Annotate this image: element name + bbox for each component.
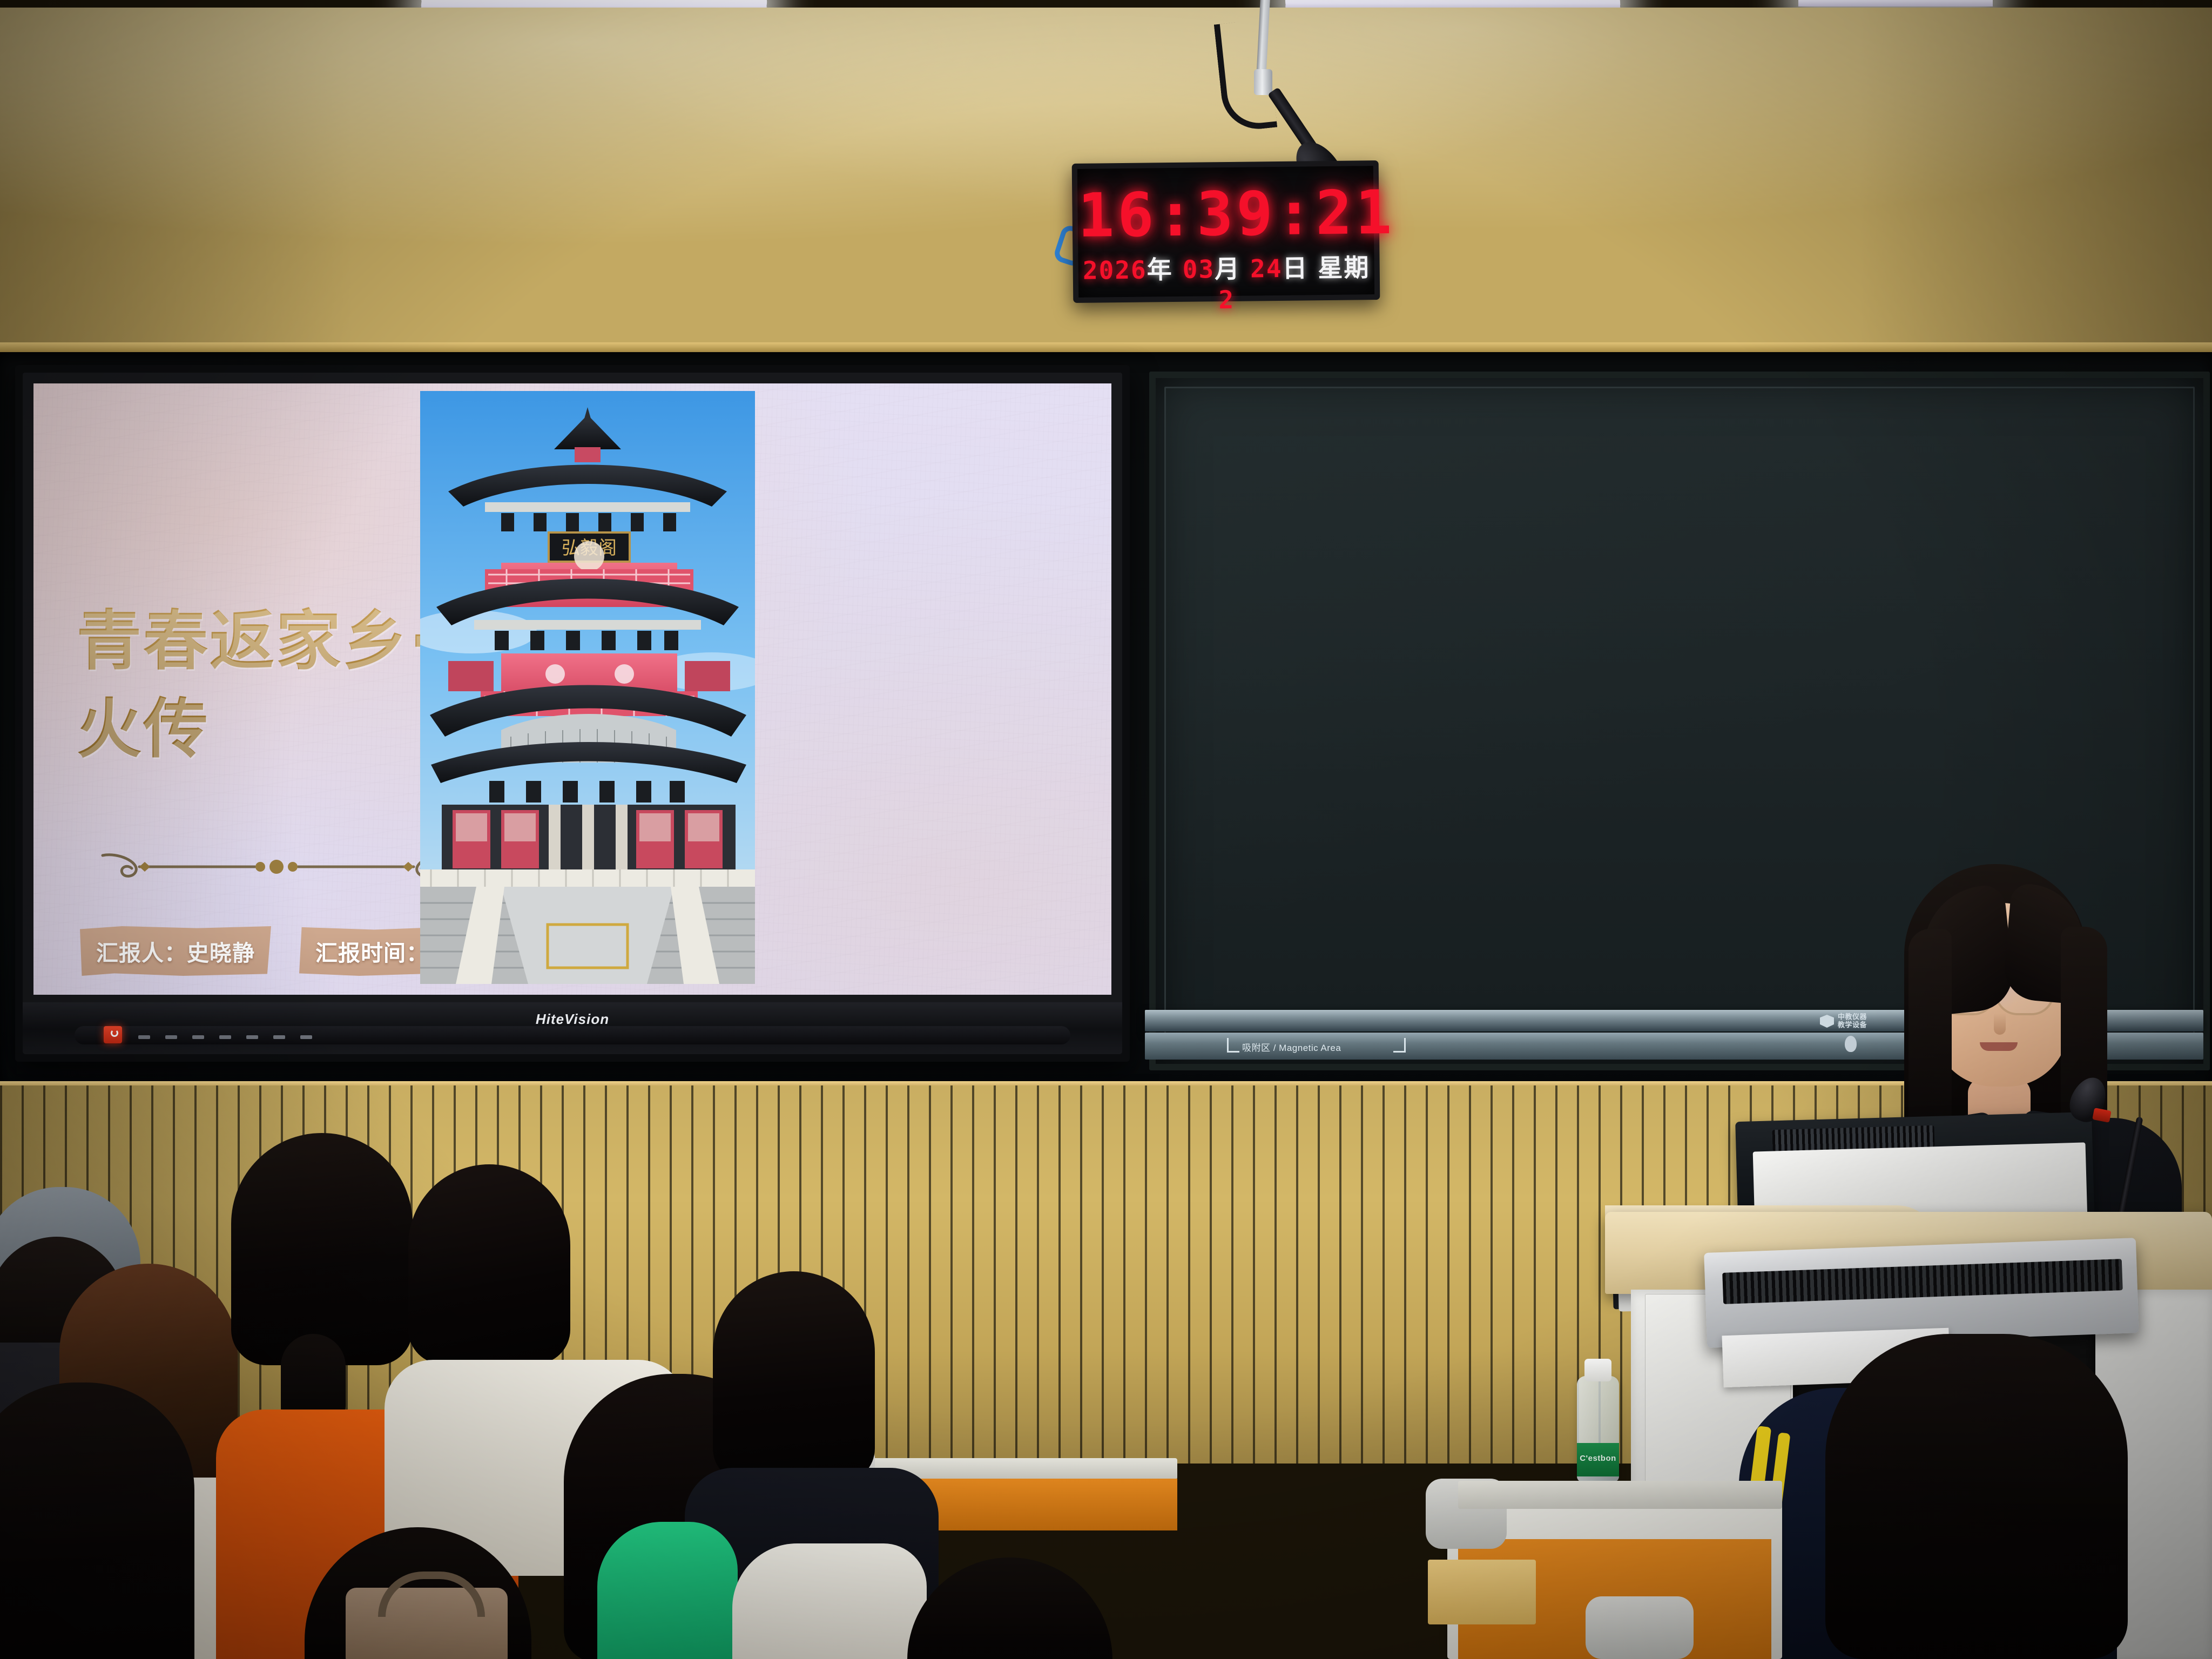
list-item — [408, 1164, 570, 1364]
list-item — [597, 1522, 738, 1659]
ornamental-divider-icon — [98, 848, 455, 886]
water-bottle-brand: C'estbon — [1577, 1454, 1619, 1463]
magnetic-area-bracket-right — [1393, 1038, 1406, 1053]
panel-screen[interactable]: 青春返家乡·文化薪火传 — [33, 383, 1111, 995]
desk-wood-panel — [1428, 1560, 1536, 1624]
presentation-slide: 青春返家乡·文化薪火传 — [33, 383, 1111, 995]
presenter-tag: 汇报人：史晓静 — [80, 926, 271, 976]
panel-keys[interactable] — [138, 1035, 312, 1039]
water-bottle-cap — [1584, 1359, 1611, 1381]
chair-arm-4 — [1586, 1596, 1694, 1659]
clock-day: 24 — [1250, 254, 1283, 284]
list-item — [713, 1271, 875, 1483]
panel-key-2[interactable] — [165, 1035, 177, 1039]
clock-month-unit: 月 — [1215, 254, 1241, 284]
clock-date: 2026年 03月 24日 星期2 — [1078, 248, 1374, 316]
classroom-scene: 16:39:21 2026年 03月 24日 星期2 青春返家乡·文化薪火传 — [0, 0, 2212, 1659]
clock-weekday-label: 星期 — [1318, 253, 1370, 282]
panel-key-5[interactable] — [246, 1035, 258, 1039]
panel-key-4[interactable] — [219, 1035, 231, 1039]
wall-trim-upper — [0, 342, 2212, 352]
student-navy-hair — [1825, 1334, 2128, 1659]
panel-chin: HiteVision — [23, 1002, 1122, 1054]
magnetic-area-bracket-left — [1227, 1038, 1239, 1053]
magnetic-area-label: 吸附区 / Magnetic Area — [1242, 1040, 1341, 1054]
presenter-mouth — [1980, 1042, 2018, 1051]
ceiling-light-3 — [1798, 0, 1993, 6]
presenter-nose — [1994, 1013, 2006, 1035]
power-button[interactable] — [104, 1026, 122, 1043]
blackboard-logo-icon — [1820, 1015, 1834, 1028]
front-desk-top — [1458, 1481, 1782, 1509]
microphone-joint — [1254, 69, 1272, 95]
list-item — [231, 1133, 413, 1365]
panel-key-7[interactable] — [300, 1035, 312, 1039]
led-wall-clock: 16:39:21 2026年 03月 24日 星期2 — [1072, 160, 1380, 303]
display-brand-label: HiteVision — [536, 1011, 609, 1028]
panel-key-6[interactable] — [273, 1035, 285, 1039]
list-item — [732, 1543, 927, 1659]
panel-key-1[interactable] — [138, 1035, 150, 1039]
clock-year: 2026 — [1083, 255, 1147, 285]
clock-month: 03 — [1182, 254, 1215, 284]
water-bottle-label: C'estbon — [1577, 1443, 1619, 1476]
clock-day-unit: 日 — [1282, 253, 1309, 282]
audience — [0, 1156, 1577, 1659]
panel-key-3[interactable] — [192, 1035, 204, 1039]
list-item — [0, 1382, 194, 1659]
clock-time: 16:39:21 — [1077, 178, 1374, 251]
clock-weekday-value: 2 — [1218, 285, 1235, 314]
pagoda-photo: 弘毅阁 — [420, 391, 755, 984]
clock-year-unit: 年 — [1147, 255, 1173, 284]
interactive-flat-panel[interactable]: 青春返家乡·文化薪火传 — [15, 365, 1130, 1062]
